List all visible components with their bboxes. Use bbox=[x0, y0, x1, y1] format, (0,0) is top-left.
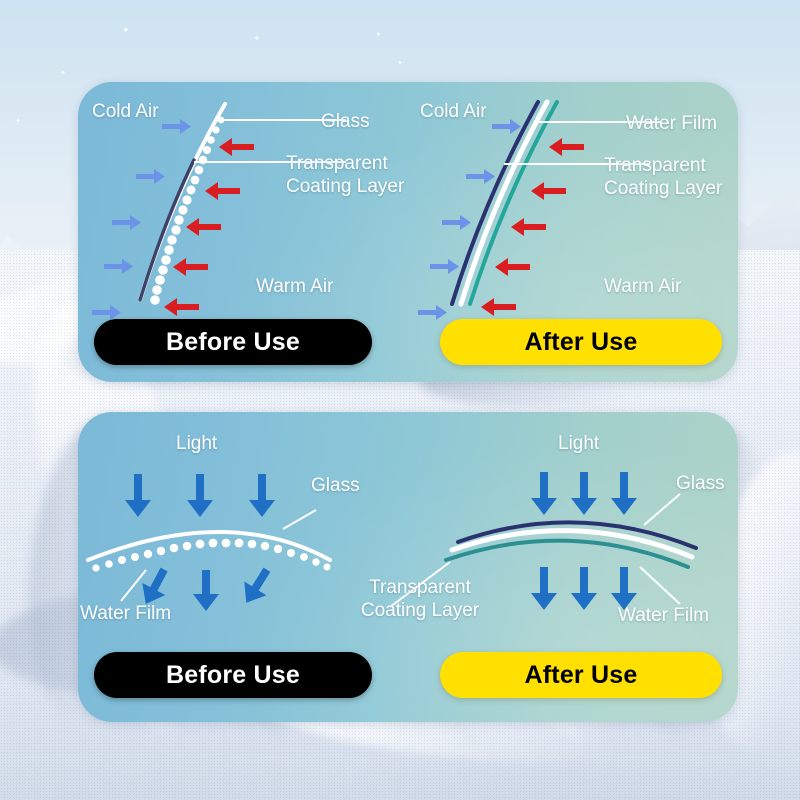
leader-line-glass bbox=[644, 494, 680, 525]
infographic-canvas: ✦ ✦ ✦ ✦ ✦ ✦ ✦ bbox=[0, 0, 800, 800]
snowflake-icon: ✦ bbox=[122, 26, 130, 35]
badge-before-use-anti-fog[interactable]: Before Use bbox=[94, 319, 372, 365]
panel-light-before: Light Glass Water Film Before Use bbox=[78, 412, 408, 722]
condensation-droplets bbox=[150, 117, 224, 305]
label-warm-air: Warm Air bbox=[256, 275, 333, 298]
light-clarity-comparison-card: Light Glass Water Film Before Use bbox=[78, 412, 738, 722]
coating-label-line-2: Coating Layer bbox=[286, 176, 404, 197]
panel-anti-fog-after: Cold Air Water Film Transparent Coating … bbox=[408, 82, 738, 382]
coating-label-line-2: Coating Layer bbox=[361, 600, 479, 621]
label-glass: Glass bbox=[321, 110, 370, 133]
label-transparent-coating-layer: Transparent Coating Layer bbox=[330, 576, 510, 622]
label-glass: Glass bbox=[676, 472, 725, 495]
curve-water-film bbox=[461, 102, 547, 304]
panel-anti-fog-before: Cold Air Glass Transparent Coating Layer… bbox=[78, 82, 408, 382]
curve-glass bbox=[452, 102, 538, 304]
panel-light-after: Light Glass Water Film Transparent Coati… bbox=[408, 412, 738, 722]
label-water-film: Water Film bbox=[626, 112, 717, 135]
snowflake-icon: ✦ bbox=[253, 34, 261, 43]
coating-label-line-1: Transparent bbox=[604, 155, 706, 176]
leader-line-glass bbox=[283, 510, 316, 529]
coating-label-line-1: Transparent bbox=[369, 577, 471, 598]
snowflake-icon: ✦ bbox=[375, 31, 382, 39]
label-water-film: Water Film bbox=[618, 604, 709, 627]
label-transparent-coating-layer: Transparent Coating Layer bbox=[604, 154, 738, 200]
leader-line-water-film bbox=[640, 567, 680, 604]
label-cold-air: Cold Air bbox=[420, 100, 487, 123]
label-cold-air: Cold Air bbox=[92, 100, 159, 123]
badge-before-use-light[interactable]: Before Use bbox=[94, 652, 372, 698]
anti-fog-comparison-card: Cold Air Glass Transparent Coating Layer… bbox=[78, 82, 738, 382]
label-water-film: Water Film bbox=[80, 602, 171, 625]
coating-label-line-1: Transparent bbox=[286, 153, 388, 174]
snowflake-icon: ✦ bbox=[15, 118, 21, 125]
badge-after-use-anti-fog[interactable]: After Use bbox=[440, 319, 722, 365]
label-warm-air: Warm Air bbox=[604, 275, 681, 298]
badge-after-use-light[interactable]: After Use bbox=[440, 652, 722, 698]
snowflake-icon: ✦ bbox=[60, 70, 66, 77]
coating-label-line-2: Coating Layer bbox=[604, 178, 722, 199]
label-light: Light bbox=[558, 432, 599, 455]
label-glass: Glass bbox=[311, 474, 360, 497]
curve-coating-layer bbox=[470, 102, 557, 304]
snowflake-icon: ✦ bbox=[397, 60, 403, 67]
leader-line-water-film bbox=[121, 570, 146, 601]
incoming-light-arrows bbox=[531, 472, 637, 515]
cold-air-arrows bbox=[418, 119, 521, 320]
incoming-light-arrows bbox=[125, 474, 275, 517]
label-light: Light bbox=[176, 432, 217, 455]
